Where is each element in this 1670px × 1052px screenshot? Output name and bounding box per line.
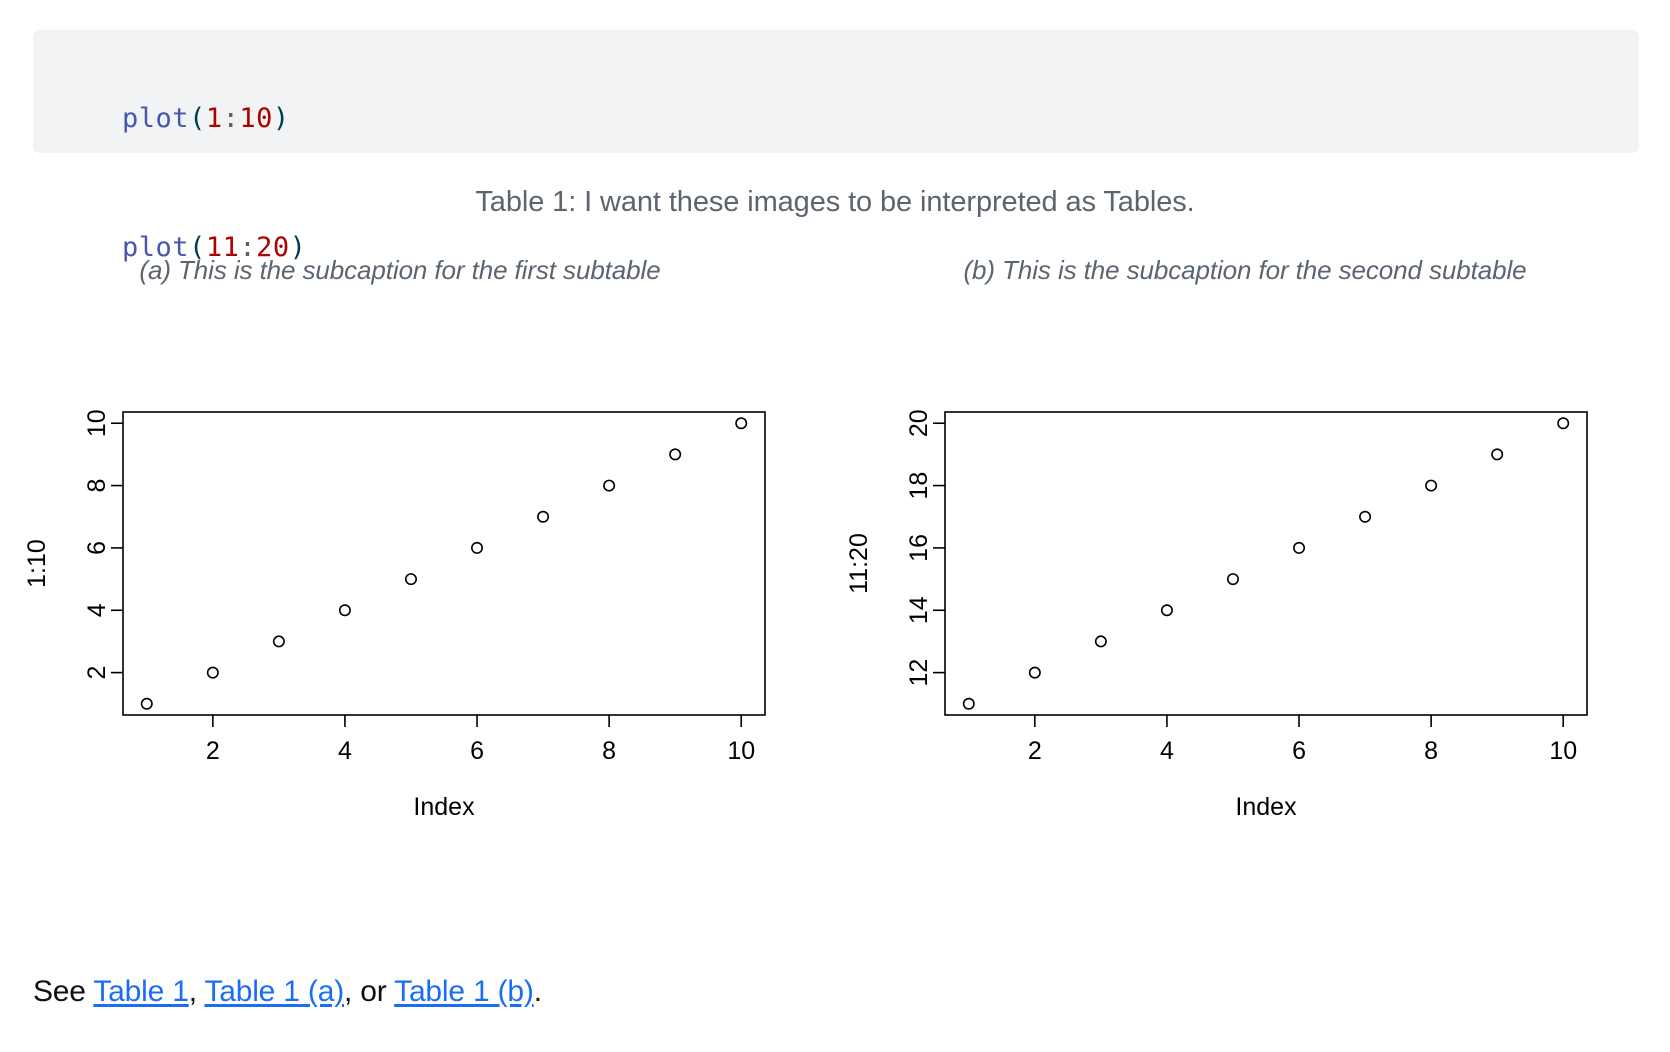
code-range-start: 1 [206, 103, 223, 134]
scatter-plot-b: 2468101214161820Index11:20 [822, 360, 1622, 840]
code-block: plot(1:10) plot(11:20) [33, 30, 1639, 153]
plot-box [945, 412, 1587, 715]
code-range-end: 10 [239, 103, 273, 134]
subtable-a-figure: 246810246810Index1:10 [0, 360, 800, 840]
plot-box [123, 412, 765, 715]
code-line-1: plot(1:10) [55, 54, 1639, 183]
y-axis-tick-label: 4 [83, 603, 111, 617]
link-table-1b[interactable]: Table 1 (b) [394, 975, 534, 1008]
code-colon-operator: : [223, 103, 240, 134]
y-axis-title: 1:10 [23, 539, 51, 588]
cross-reference-sentence: See Table 1, Table 1 (a), or Table 1 (b)… [33, 975, 542, 1009]
data-point [604, 480, 614, 490]
data-point [274, 636, 284, 646]
x-axis-tick-label: 6 [1292, 737, 1306, 765]
subcaption-a: (a) This is the subcaption for the first… [0, 255, 800, 286]
data-point [670, 449, 680, 459]
data-point [1096, 636, 1106, 646]
data-point [472, 543, 482, 553]
data-point [142, 699, 152, 709]
data-point [208, 667, 218, 677]
footer-separator-1: , [189, 975, 205, 1008]
y-axis-tick-label: 12 [905, 659, 933, 687]
x-axis-tick-label: 4 [338, 737, 352, 765]
y-axis-tick-label: 10 [83, 409, 111, 437]
x-axis-tick-label: 2 [206, 737, 220, 765]
footer-lead-text: See [33, 975, 93, 1008]
data-point [1426, 480, 1436, 490]
x-axis-title: Index [1235, 793, 1297, 821]
data-point [1558, 418, 1568, 428]
subtable-b-figure: 2468101214161820Index11:20 [822, 360, 1622, 840]
x-axis-tick-label: 10 [727, 737, 755, 765]
y-axis-tick-label: 2 [83, 666, 111, 680]
link-table-1a[interactable]: Table 1 (a) [204, 975, 344, 1008]
y-axis-tick-label: 20 [905, 409, 933, 437]
x-axis-title: Index [413, 793, 475, 821]
code-function-name: plot [122, 103, 189, 134]
table-caption: Table 1: I want these images to be inter… [0, 186, 1670, 219]
y-axis-tick-label: 18 [905, 472, 933, 500]
x-axis-tick-label: 8 [602, 737, 616, 765]
data-point [964, 699, 974, 709]
data-point [736, 418, 746, 428]
code-open-paren: ( [189, 103, 206, 134]
data-point [1360, 512, 1370, 522]
data-point [406, 574, 416, 584]
data-point [538, 512, 548, 522]
code-close-paren: ) [273, 103, 290, 134]
y-axis-tick-label: 8 [83, 479, 111, 493]
y-axis-tick-label: 14 [905, 596, 933, 624]
data-point [1492, 449, 1502, 459]
x-axis-tick-label: 4 [1160, 737, 1174, 765]
subcaption-b: (b) This is the subcaption for the secon… [835, 255, 1655, 286]
y-axis-tick-label: 16 [905, 534, 933, 562]
y-axis-title: 11:20 [845, 533, 873, 594]
link-table-1[interactable]: Table 1 [93, 975, 188, 1008]
footer-period: . [534, 975, 542, 1008]
data-point [340, 605, 350, 615]
data-point [1162, 605, 1172, 615]
x-axis-tick-label: 10 [1549, 737, 1577, 765]
x-axis-tick-label: 2 [1028, 737, 1042, 765]
x-axis-tick-label: 6 [470, 737, 484, 765]
y-axis-tick-label: 6 [83, 541, 111, 555]
footer-separator-2: , or [344, 975, 394, 1008]
x-axis-tick-label: 8 [1424, 737, 1438, 765]
data-point [1228, 574, 1238, 584]
data-point [1294, 543, 1304, 553]
data-point [1030, 667, 1040, 677]
scatter-plot-a: 246810246810Index1:10 [0, 360, 800, 840]
